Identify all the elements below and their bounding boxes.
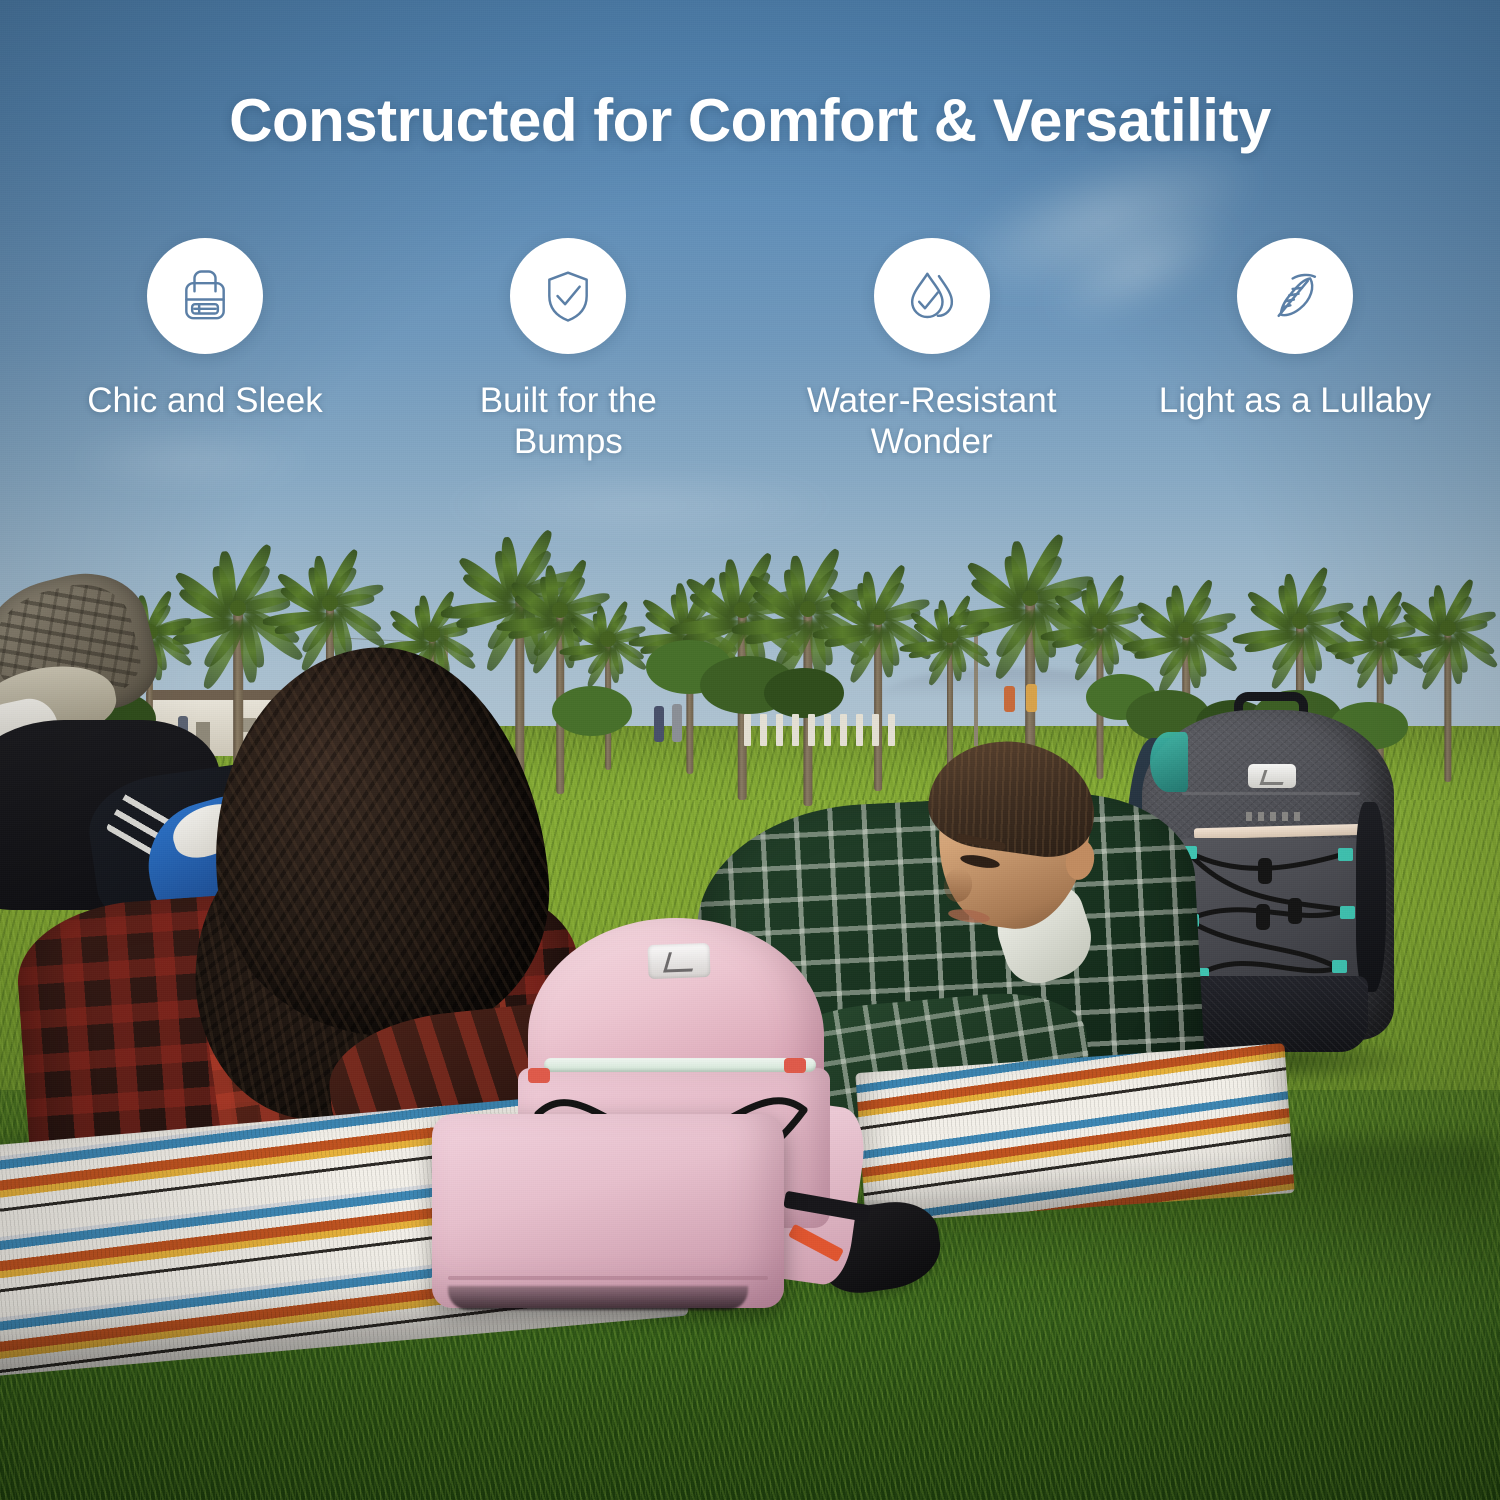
text-overlay: Constructed for Comfort & Versatility Ch… [0, 0, 1500, 1500]
product-feature-banner: Constructed for Comfort & Versatility Ch… [0, 0, 1500, 1500]
backpack-icon [147, 238, 263, 354]
shield-check-icon [510, 238, 626, 354]
feature-item-chic-and-sleek: Chic and Sleek [60, 238, 350, 421]
feature-label: Light as a Lullaby [1159, 380, 1431, 421]
feature-label: Chic and Sleek [87, 380, 322, 421]
feature-label: Built for the Bumps [428, 380, 708, 463]
feature-item-built-for-the-bumps: Built for the Bumps [423, 238, 713, 463]
page-title: Constructed for Comfort & Versatility [0, 86, 1500, 155]
feature-label: Water-Resistant Wonder [792, 380, 1072, 463]
feature-item-water-resistant-wonder: Water-Resistant Wonder [787, 238, 1077, 463]
feather-icon [1237, 238, 1353, 354]
water-drop-check-icon [874, 238, 990, 354]
feature-list: Chic and Sleek Built for the Bumps [60, 238, 1440, 463]
feature-item-light-as-a-lullaby: Light as a Lullaby [1150, 238, 1440, 421]
